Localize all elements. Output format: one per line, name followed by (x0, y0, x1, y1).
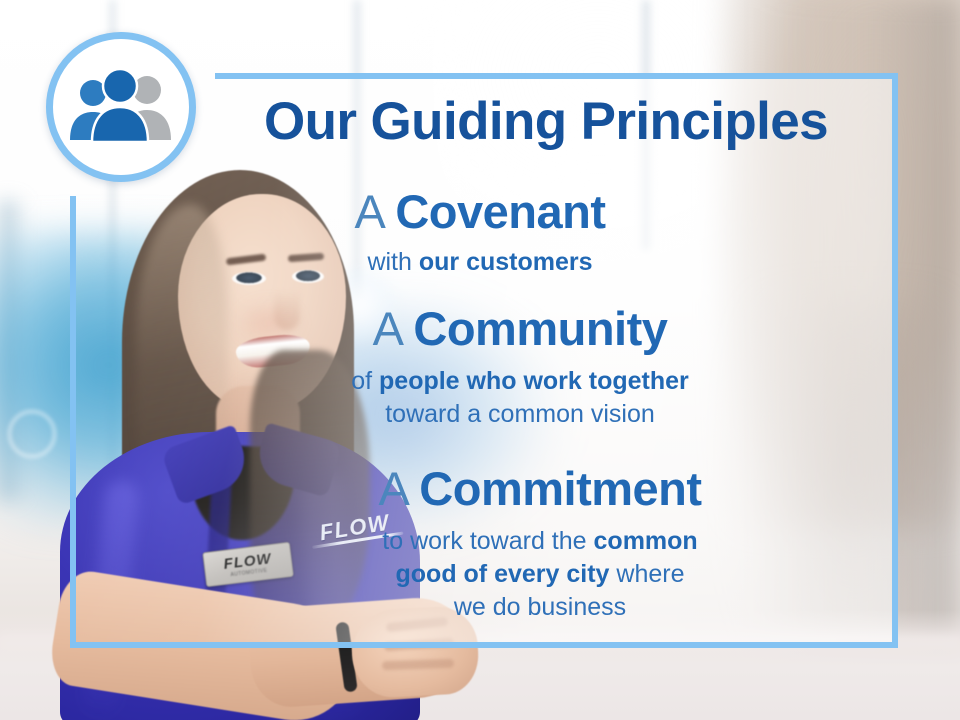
principle-community-title: A Community (170, 303, 870, 355)
principle-community-subtitle: of people who work togethertoward a comm… (170, 365, 870, 431)
person-center-head (103, 69, 137, 103)
principle-commitment: A Commitment to work toward the commongo… (190, 463, 890, 624)
principle-commitment-subtitle: to work toward the commongood of every c… (190, 525, 890, 624)
principle-covenant: A Covenant with our customers (130, 186, 830, 279)
keyword-covenant: Covenant (395, 185, 605, 238)
principle-covenant-subtitle: with our customers (130, 246, 830, 279)
article-a: A (373, 302, 414, 355)
principle-community: A Community of people who work togethert… (170, 303, 870, 431)
article-a: A (355, 185, 396, 238)
keyword-community: Community (413, 302, 667, 355)
people-group-icon (65, 68, 177, 146)
principle-covenant-title: A Covenant (130, 186, 830, 238)
principle-commitment-title: A Commitment (190, 463, 890, 515)
people-group-badge (46, 32, 196, 182)
keyword-commitment: Commitment (419, 462, 701, 515)
page-title: Our Guiding Principles (215, 93, 877, 151)
guiding-principles-graphic: FLOW FLOW AUTOMOTIVE (0, 0, 960, 720)
article-a: A (378, 462, 419, 515)
